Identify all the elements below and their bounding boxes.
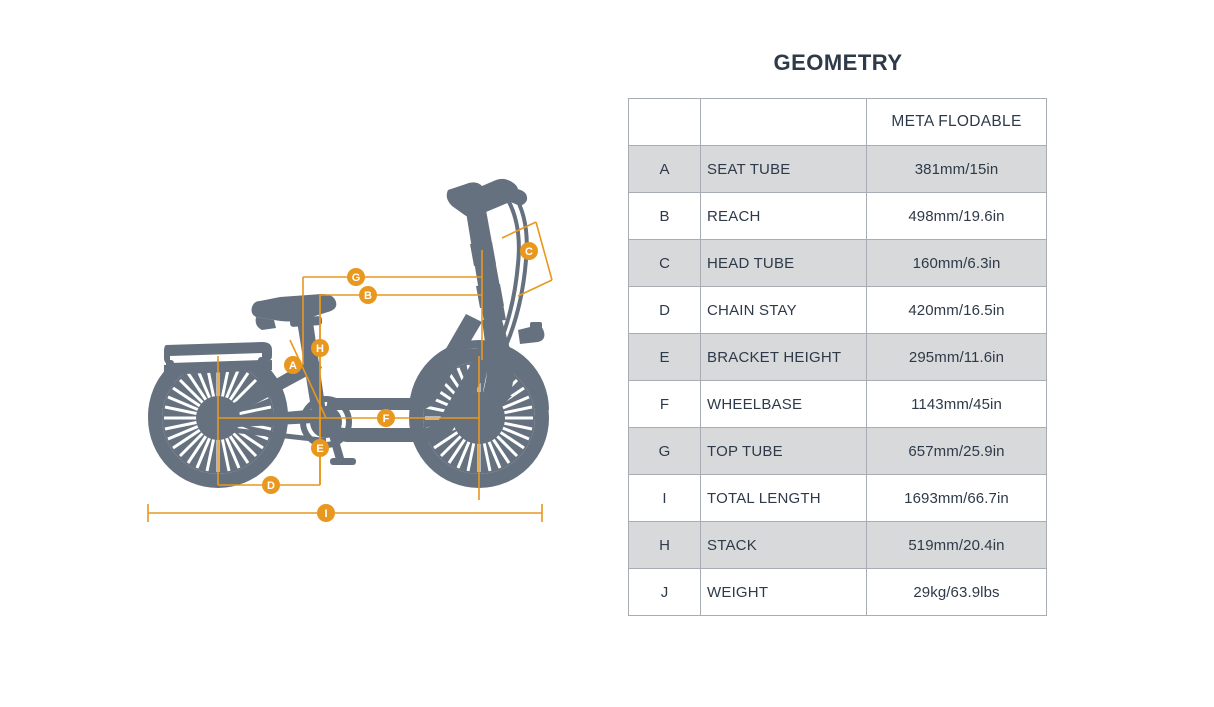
row-letter: D	[629, 287, 701, 334]
row-measurement-value: 420mm/16.5in	[867, 287, 1047, 334]
row-letter: B	[629, 193, 701, 240]
row-letter: G	[629, 428, 701, 475]
row-measurement-name: CHAIN STAY	[701, 287, 867, 334]
geometry-spec-page: G B C H A	[0, 0, 1214, 707]
svg-text:I: I	[324, 508, 327, 520]
row-measurement-value: 295mm/11.6in	[867, 334, 1047, 381]
callout-badge-D: D	[262, 476, 280, 494]
table-row: FWHEELBASE1143mm/45in	[629, 381, 1047, 428]
table-header: META FLODABLE	[629, 99, 1047, 146]
callout-badge-I: I	[317, 504, 335, 522]
header-row: META FLODABLE	[629, 99, 1047, 146]
bike-geometry-diagram: G B C H A	[130, 160, 560, 540]
callout-badge-H: H	[311, 339, 329, 357]
table-row: ITOTAL LENGTH1693mm/66.7in	[629, 475, 1047, 522]
table-row: HSTACK519mm/20.4in	[629, 522, 1047, 569]
row-letter: A	[629, 146, 701, 193]
row-letter: H	[629, 522, 701, 569]
row-measurement-name: WHEELBASE	[701, 381, 867, 428]
svg-text:A: A	[289, 360, 297, 372]
row-measurement-name: TOTAL LENGTH	[701, 475, 867, 522]
callout-badge-A: A	[284, 356, 302, 374]
row-measurement-value: 29kg/63.9lbs	[867, 569, 1047, 616]
table-row: EBRACKET HEIGHT295mm/11.6in	[629, 334, 1047, 381]
row-measurement-value: 657mm/25.9in	[867, 428, 1047, 475]
svg-text:B: B	[364, 290, 372, 302]
table-body: ASEAT TUBE381mm/15inBREACH498mm/19.6inCH…	[629, 146, 1047, 616]
row-letter: C	[629, 240, 701, 287]
row-measurement-value: 381mm/15in	[867, 146, 1047, 193]
svg-text:G: G	[352, 272, 361, 284]
svg-text:F: F	[383, 413, 390, 425]
row-measurement-name: STACK	[701, 522, 867, 569]
svg-text:C: C	[525, 246, 533, 258]
callout-badge-B: B	[359, 286, 377, 304]
table-row: CHEAD TUBE160mm/6.3in	[629, 240, 1047, 287]
row-measurement-name: SEAT TUBE	[701, 146, 867, 193]
callout-badge-E: E	[311, 439, 329, 457]
svg-text:H: H	[316, 343, 324, 355]
geometry-table: META FLODABLE ASEAT TUBE381mm/15inBREACH…	[628, 98, 1047, 616]
row-letter: F	[629, 381, 701, 428]
row-measurement-name: BRACKET HEIGHT	[701, 334, 867, 381]
row-measurement-name: REACH	[701, 193, 867, 240]
geometry-panel: GEOMETRY META FLODABLE ASEAT TUBE381mm/1…	[628, 50, 1048, 616]
callout-badge-C: C	[520, 242, 538, 260]
row-measurement-name: HEAD TUBE	[701, 240, 867, 287]
row-measurement-value: 519mm/20.4in	[867, 522, 1047, 569]
row-measurement-value: 160mm/6.3in	[867, 240, 1047, 287]
row-measurement-name: TOP TUBE	[701, 428, 867, 475]
row-measurement-value: 1693mm/66.7in	[867, 475, 1047, 522]
bike-diagram-panel: G B C H A	[0, 0, 600, 707]
table-row: JWEIGHT29kg/63.9lbs	[629, 569, 1047, 616]
table-row: DCHAIN STAY420mm/16.5in	[629, 287, 1047, 334]
svg-text:D: D	[267, 480, 275, 492]
row-measurement-value: 498mm/19.6in	[867, 193, 1047, 240]
table-row: GTOP TUBE657mm/25.9in	[629, 428, 1047, 475]
row-letter: J	[629, 569, 701, 616]
row-letter: E	[629, 334, 701, 381]
svg-text:E: E	[316, 443, 323, 455]
table-row: BREACH498mm/19.6in	[629, 193, 1047, 240]
page-title: GEOMETRY	[628, 50, 1048, 76]
row-measurement-value: 1143mm/45in	[867, 381, 1047, 428]
row-measurement-name: WEIGHT	[701, 569, 867, 616]
header-letter-cell	[629, 99, 701, 146]
callout-badge-F: F	[377, 409, 395, 427]
row-letter: I	[629, 475, 701, 522]
callout-badge-G: G	[347, 268, 365, 286]
table-row: ASEAT TUBE381mm/15in	[629, 146, 1047, 193]
header-model-cell: META FLODABLE	[867, 99, 1047, 146]
header-name-cell	[701, 99, 867, 146]
